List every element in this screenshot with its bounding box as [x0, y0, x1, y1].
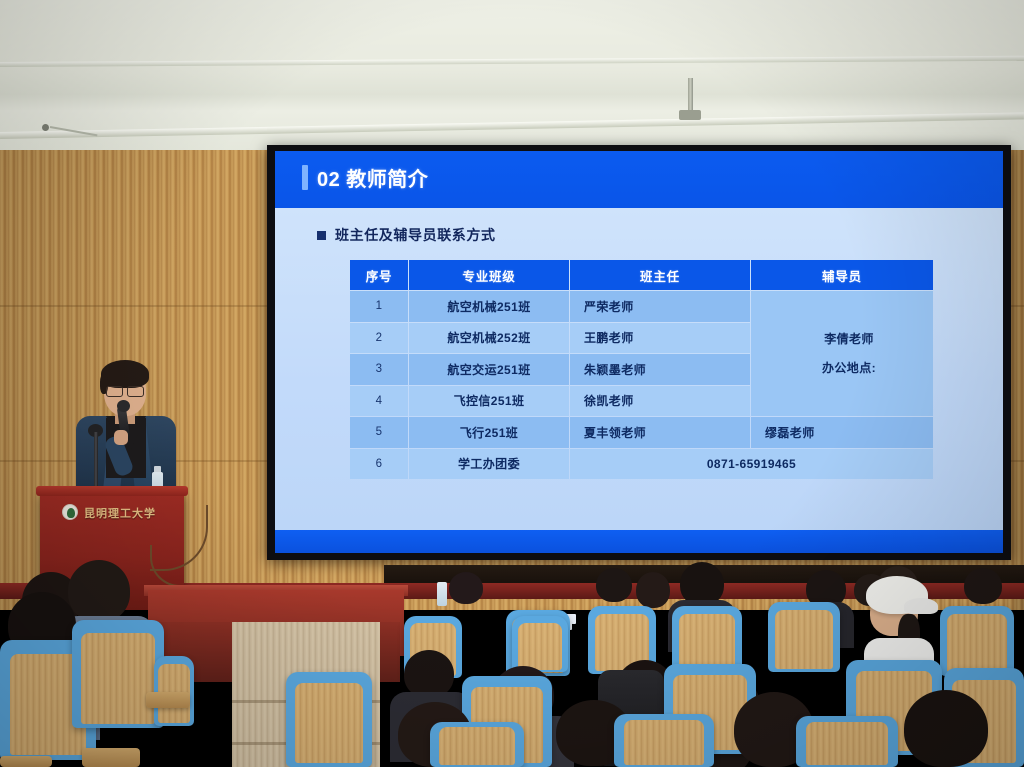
title-accent-bar-icon — [302, 165, 308, 190]
ceiling-seam-upper — [0, 56, 1024, 67]
column-header-advisor: 辅导员 — [751, 260, 933, 290]
ceiling-seam-lower — [0, 112, 1024, 139]
column-header-class: 专业班级 — [409, 260, 569, 290]
cell-no: 3 — [350, 354, 408, 385]
square-bullet-icon — [317, 231, 326, 240]
auditorium-seat — [72, 620, 164, 728]
column-header-teacher: 班主任 — [570, 260, 750, 290]
ceiling — [0, 0, 1024, 158]
cell-no: 4 — [350, 386, 408, 417]
projection-screen[interactable]: 02 教师简介 班主任及辅导员联系方式 序号 专业班级 — [275, 151, 1003, 553]
bullet-heading-label: 班主任及辅导员联系方式 — [335, 225, 496, 245]
cell-teacher: 朱颖墨老师 — [570, 354, 750, 385]
ceiling-sensor-icon — [688, 78, 693, 112]
slide-body: 班主任及辅导员联系方式 序号 专业班级 班主任 辅导员 — [275, 208, 1003, 530]
podium-institution-label: 昆明理工大学 — [84, 505, 156, 521]
lecture-hall-scene: 02 教师简介 班主任及辅导员联系方式 序号 专业班级 — [0, 0, 1024, 767]
slide-title-group: 02 教师简介 — [302, 163, 428, 192]
seat-armrest — [0, 756, 52, 767]
cell-class: 学工办团委 — [409, 449, 569, 480]
slide-title: 02 教师简介 — [317, 163, 428, 192]
auditorium-seat — [286, 672, 372, 767]
table-row: 6 学工办团委 0871-65919465 — [350, 449, 933, 480]
cell-class: 航空机械251班 — [409, 291, 569, 322]
contacts-table: 序号 专业班级 班主任 辅导员 1 航空机械251班 严荣老师 李倩老师 — [349, 259, 934, 480]
cell-advisor-merged: 李倩老师 办公地点: — [751, 291, 933, 416]
cell-class: 飞控信251班 — [409, 386, 569, 417]
glasses-icon — [106, 386, 144, 395]
column-header-no: 序号 — [350, 260, 408, 290]
microphone-head-icon — [117, 400, 130, 412]
cell-teacher: 严荣老师 — [570, 291, 750, 322]
table-row: 1 航空机械251班 严荣老师 李倩老师 办公地点: — [350, 291, 933, 322]
cell-teacher: 夏丰领老师 — [570, 417, 750, 448]
university-crest-icon — [62, 504, 78, 520]
table-row: 5 飞行251班 夏丰领老师 缪磊老师 — [350, 417, 933, 448]
cell-teacher: 徐凯老师 — [570, 386, 750, 417]
ceiling-fixture-icon — [42, 124, 49, 131]
water-bottle-icon — [437, 582, 447, 606]
slide-footer-band — [275, 530, 1003, 553]
auditorium-seat — [940, 606, 1014, 676]
cell-no: 6 — [350, 449, 408, 480]
speaker-hair — [101, 360, 149, 388]
ceiling-sensor-mount — [679, 110, 701, 120]
projection-screen-frame: 02 教师简介 班主任及辅导员联系方式 序号 专业班级 — [267, 145, 1011, 560]
cell-no: 2 — [350, 323, 408, 354]
cell-no: 1 — [350, 291, 408, 322]
auditorium-seat — [512, 616, 568, 672]
cell-phone: 0871-65919465 — [570, 449, 933, 480]
table-header-row: 序号 专业班级 班主任 辅导员 — [350, 260, 933, 290]
auditorium-seat — [768, 602, 840, 672]
speaker-hand — [114, 430, 128, 445]
auditorium-seat — [154, 656, 194, 726]
slide-bullet-heading: 班主任及辅导员联系方式 — [317, 225, 496, 245]
auditorium-seat — [796, 716, 898, 767]
auditorium-seat — [430, 722, 524, 767]
cell-advisor: 缪磊老师 — [751, 417, 933, 448]
seat-armrest — [146, 692, 190, 708]
cell-class: 飞行251班 — [409, 417, 569, 448]
podium-top-surface — [36, 486, 188, 496]
cell-teacher: 王鹏老师 — [570, 323, 750, 354]
seat-armrest — [82, 748, 140, 767]
cap-brim-icon — [904, 598, 938, 614]
slide-header: 02 教师简介 — [275, 151, 1003, 208]
cell-class: 航空机械252班 — [409, 323, 569, 354]
advisor-office-label: 办公地点: — [765, 354, 933, 382]
cell-no: 5 — [350, 417, 408, 448]
auditorium-seat — [614, 714, 714, 767]
cell-class: 航空交运251班 — [409, 354, 569, 385]
advisor-name: 李倩老师 — [765, 325, 933, 353]
